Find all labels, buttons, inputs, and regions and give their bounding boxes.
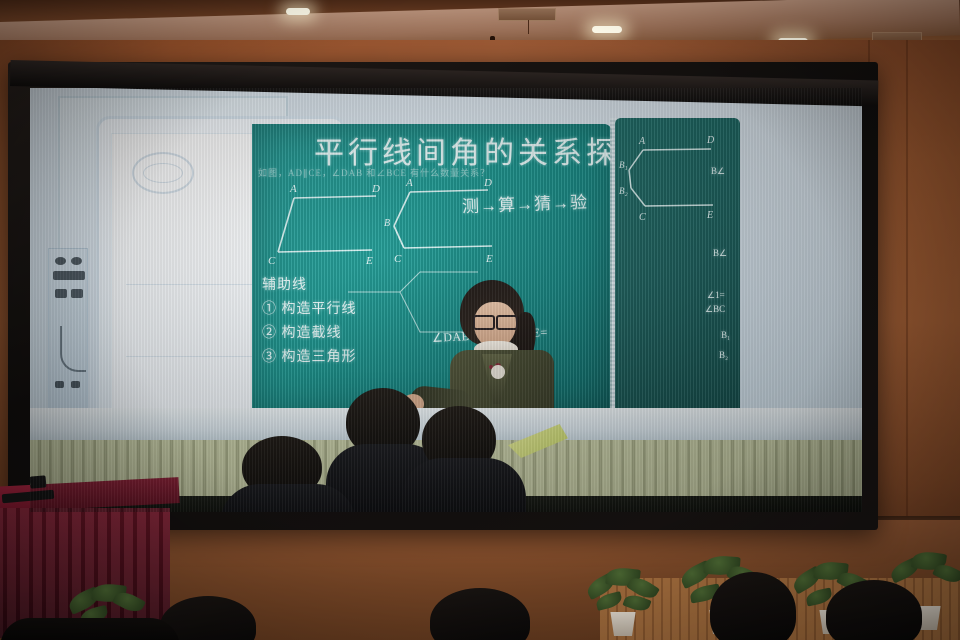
right-note-2: B∠: [713, 248, 727, 259]
tool-square-icon-2[interactable]: [71, 289, 83, 298]
teacher-necklace: [491, 365, 505, 379]
tool-circle-icon-2[interactable]: [71, 257, 82, 265]
svg-text:C: C: [268, 255, 276, 267]
svg-text:B: B: [384, 218, 390, 229]
glasses-icon: [473, 315, 518, 326]
tool-dot-icon-1[interactable]: [55, 381, 64, 388]
sensor-wire: [528, 20, 529, 34]
blackboard-method-heading: 辅助线: [262, 276, 307, 296]
right-geometry-diagram: A D B₁ B₂ C E: [619, 132, 737, 252]
led-video-wall[interactable]: 平行线间角的关系探究 如图，AD∥CE，∠DAB 和∠BCE 有什么数量关系？ …: [8, 62, 878, 530]
audience-head-3: [710, 572, 796, 640]
svg-text:C: C: [394, 253, 402, 265]
classroom-blackboard: 平行线间角的关系探究 如图，AD∥CE，∠DAB 和∠BCE 有什么数量关系？ …: [252, 124, 612, 414]
svg-text:A: A: [638, 136, 646, 147]
tool-square-icon-1[interactable]: [55, 289, 67, 298]
svg-text:B₂: B₂: [619, 186, 628, 196]
right-note-1: B∠: [711, 166, 725, 177]
auditorium-scene: 平行线间角的关系探究 如图，AD∥CE，∠DAB 和∠BCE 有什么数量关系？ …: [0, 0, 960, 640]
tool-bar-icon[interactable]: [53, 271, 85, 280]
smartboard-cable: [60, 326, 86, 372]
blackboard-method-2: ② 构造截线: [262, 324, 342, 344]
audience-shoulder-1: [0, 618, 180, 640]
plant-pot: [608, 612, 638, 636]
tool-circle-icon-1[interactable]: [55, 257, 66, 265]
svg-text:E: E: [706, 210, 713, 221]
svg-text:E: E: [365, 255, 373, 267]
led-panel: 平行线间角的关系探究 如图，AD∥CE，∠DAB 和∠BCE 有什么数量关系？ …: [30, 88, 862, 512]
broadcast-student-body-3: [220, 484, 356, 512]
ceiling-downlight-3: [286, 8, 310, 15]
svg-text:D: D: [483, 177, 492, 189]
svg-text:B₁: B₁: [619, 160, 628, 170]
microphone-icon[interactable]: [30, 475, 47, 488]
wall-seam: [906, 40, 908, 580]
svg-text:E: E: [485, 253, 493, 265]
school-seal-watermark-icon: [132, 152, 194, 194]
svg-text:A: A: [289, 183, 297, 195]
ceiling-vent-icon: [498, 8, 556, 21]
tool-dot-icon-2[interactable]: [71, 381, 80, 388]
broadcast-student-body-2: [402, 458, 526, 512]
svg-text:D: D: [706, 135, 715, 146]
svg-text:C: C: [639, 212, 646, 223]
right-blackboard: A D B₁ B₂ C E B∠ B∠ ∠1= ∠BC B₁ B₂: [615, 118, 740, 418]
right-note-3: ∠1=: [707, 290, 725, 301]
right-note-5: B₁: [721, 330, 730, 340]
svg-text:A: A: [405, 177, 413, 189]
svg-text:D: D: [371, 183, 380, 195]
right-note-6: B₂: [719, 350, 728, 360]
right-note-4: ∠BC: [705, 304, 725, 315]
potted-plant-1: [580, 566, 666, 636]
ceiling-downlight-1: [592, 26, 622, 33]
blackboard-method-1: ① 构造平行线: [262, 300, 357, 320]
blackboard-method-3: ③ 构造三角形: [262, 348, 357, 368]
blackboard-flow-text: 测→算→猜→验: [462, 188, 589, 217]
